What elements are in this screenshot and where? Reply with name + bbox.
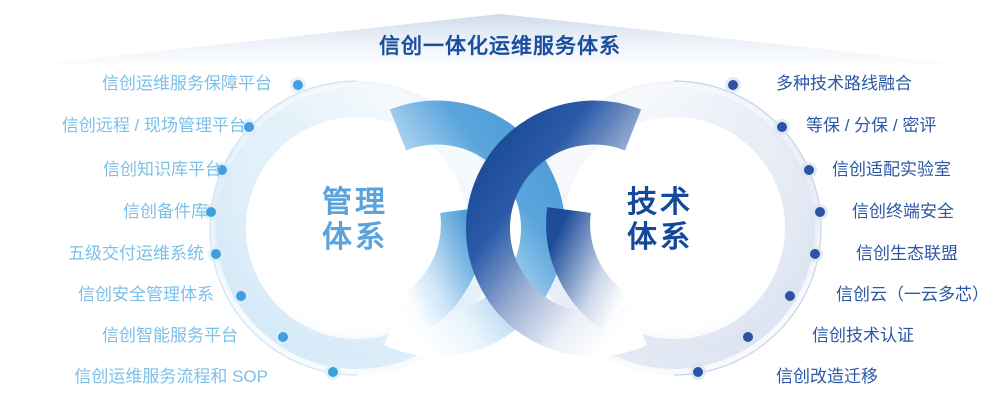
technology-item-4[interactable]: 信创生态联盟 bbox=[856, 245, 1000, 262]
technology-item-7[interactable]: 信创改造迁移 bbox=[776, 368, 1000, 385]
management-item-3[interactable]: 信创备件库 bbox=[0, 203, 208, 220]
management-item-6[interactable]: 信创智能服务平台 bbox=[0, 327, 238, 344]
right-dot-6 bbox=[740, 329, 756, 345]
management-system-label-line2: 体系 bbox=[285, 220, 425, 255]
management-item-2[interactable]: 信创知识库平台 bbox=[0, 161, 222, 178]
page-title: 信创一体化运维服务体系 bbox=[0, 30, 1000, 60]
right-dot-3 bbox=[812, 204, 828, 220]
left-dot-7 bbox=[325, 364, 341, 380]
left-dot-5 bbox=[233, 288, 249, 304]
technology-system-label-line2: 体系 bbox=[590, 220, 730, 255]
technology-item-0[interactable]: 多种技术路线融合 bbox=[776, 75, 1000, 92]
right-dot-7 bbox=[690, 364, 706, 380]
management-item-5[interactable]: 信创安全管理体系 bbox=[0, 286, 214, 303]
technology-item-2[interactable]: 信创适配实验室 bbox=[832, 161, 1000, 178]
management-item-7[interactable]: 信创运维服务流程和 SOP bbox=[0, 368, 268, 385]
left-dot-4 bbox=[208, 246, 224, 262]
technology-item-3[interactable]: 信创终端安全 bbox=[852, 203, 1000, 220]
management-system-label-line1: 管理 bbox=[285, 185, 425, 220]
technology-system-label-line1: 技术 bbox=[590, 185, 730, 220]
right-dot-2 bbox=[801, 162, 817, 178]
technology-system-label: 技术 体系 bbox=[590, 185, 730, 256]
management-item-4[interactable]: 五级交付运维系统 bbox=[0, 245, 204, 262]
right-dot-0 bbox=[725, 77, 741, 93]
infographic-canvas: 信创一体化运维服务体系 管理 体系 技术 体系 信创运维服务保障平台信创远程 /… bbox=[0, 0, 1000, 408]
technology-item-5[interactable]: 信创云（一云多芯） bbox=[836, 286, 1000, 303]
technology-item-1[interactable]: 等保 / 分保 / 密评 bbox=[806, 117, 1000, 134]
management-item-1[interactable]: 信创远程 / 现场管理平台 bbox=[0, 117, 246, 134]
right-dot-1 bbox=[774, 119, 790, 135]
left-dot-0 bbox=[290, 77, 306, 93]
management-item-0[interactable]: 信创运维服务保障平台 bbox=[0, 75, 272, 92]
right-dot-5 bbox=[782, 288, 798, 304]
left-dot-6 bbox=[275, 329, 291, 345]
management-system-label: 管理 体系 bbox=[285, 185, 425, 256]
technology-item-6[interactable]: 信创技术认证 bbox=[812, 327, 1000, 344]
right-dot-4 bbox=[807, 246, 823, 262]
